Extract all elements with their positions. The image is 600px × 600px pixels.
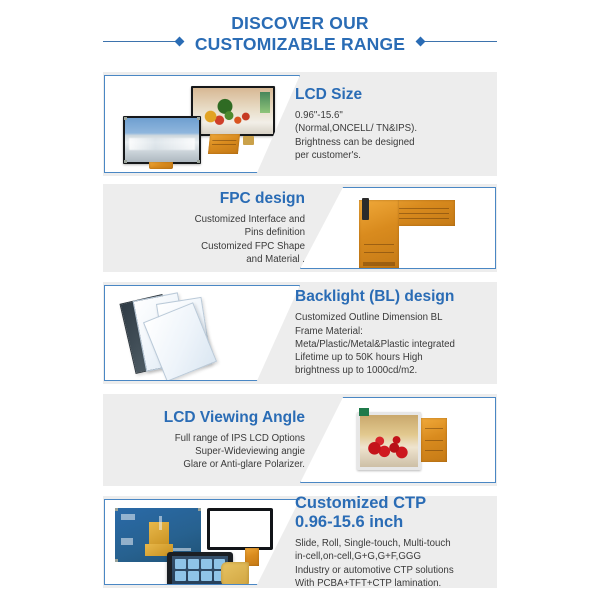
section-backlight-design: Backlight (BL) design Customized Outline… [103, 282, 497, 384]
screen-fruit-image [193, 88, 273, 134]
section-customized-ctp: Customized CTP 0.96-15.6 inch Slide, Rol… [103, 496, 497, 588]
fpc-tail-fruit [208, 134, 240, 154]
tablet-icon-grid [172, 556, 228, 584]
section-title-fpc-design: FPC design [111, 190, 305, 208]
text-block-ctp: Customized CTP 0.96-15.6 inch Slide, Rol… [289, 496, 489, 588]
section-title-viewing-angle: LCD Viewing Angle [111, 409, 305, 427]
touch-glass-panel [207, 508, 273, 550]
section-title-backlight: Backlight (BL) design [295, 288, 489, 306]
text-block-viewing-angle: LCD Viewing Angle Full range of IPS LCD … [111, 394, 311, 486]
section-title-lcd-size: LCD Size [295, 86, 489, 104]
section-body-viewing-angle: Full range of IPS LCD Options Super-Wide… [111, 432, 305, 472]
text-block-fpc-design: FPC design Customized Interface and Pins… [111, 184, 311, 272]
diamond-marker-right-icon [416, 36, 426, 46]
text-block-lcd-size: LCD Size 0.96"-15.6" (Normal,ONCELL/ TN&… [289, 72, 489, 176]
page-title: DISCOVER OUR CUSTOMIZABLE RANGE [195, 13, 405, 55]
text-block-backlight: Backlight (BL) design Customized Outline… [289, 282, 489, 384]
section-fpc-design: FPC design Customized Interface and Pins… [103, 184, 497, 272]
lcd-module-landscape [123, 116, 201, 164]
diamond-marker-left-icon [174, 36, 184, 46]
section-title-ctp: Customized CTP 0.96-15.6 inch [295, 494, 489, 532]
header-rule-right [425, 41, 497, 42]
screen-landscape-image [125, 118, 199, 162]
header-rule-left [103, 41, 175, 42]
fpc-tail-apples [421, 418, 447, 462]
image-panel-fpc-design [300, 187, 496, 269]
fpc-contact-strip [363, 262, 395, 266]
image-panel-lcd-size [104, 75, 300, 173]
section-body-backlight: Customized Outline Dimension BL Frame Ma… [295, 311, 489, 377]
screen-apples-image [360, 415, 418, 467]
lcd-module-apples [357, 412, 421, 470]
section-body-lcd-size: 0.96"-15.6" (Normal,ONCELL/ TN&IPS). Bri… [295, 109, 489, 162]
image-panel-backlight [104, 285, 300, 381]
fpc-chip-black [362, 198, 369, 220]
fpc-tail-landscape [149, 162, 173, 169]
section-body-ctp: Slide, Roll, Single-touch, Multi-touch i… [295, 537, 489, 590]
infographic-page: DISCOVER OUR CUSTOMIZABLE RANGE [0, 0, 600, 600]
image-panel-ctp [104, 499, 300, 585]
page-header: DISCOVER OUR CUSTOMIZABLE RANGE [0, 8, 600, 60]
image-panel-viewing-angle [300, 397, 496, 483]
section-lcd-size: LCD Size 0.96"-15.6" (Normal,ONCELL/ TN&… [103, 72, 497, 176]
section-body-fpc-design: Customized Interface and Pins definition… [111, 213, 305, 266]
fpc-connector-fruit [243, 136, 254, 145]
section-lcd-viewing-angle: LCD Viewing Angle Full range of IPS LCD … [103, 394, 497, 486]
lcd-module-fruit [191, 86, 275, 136]
lcd-tab-green [359, 408, 369, 416]
hand-pointing-icon [221, 562, 249, 585]
